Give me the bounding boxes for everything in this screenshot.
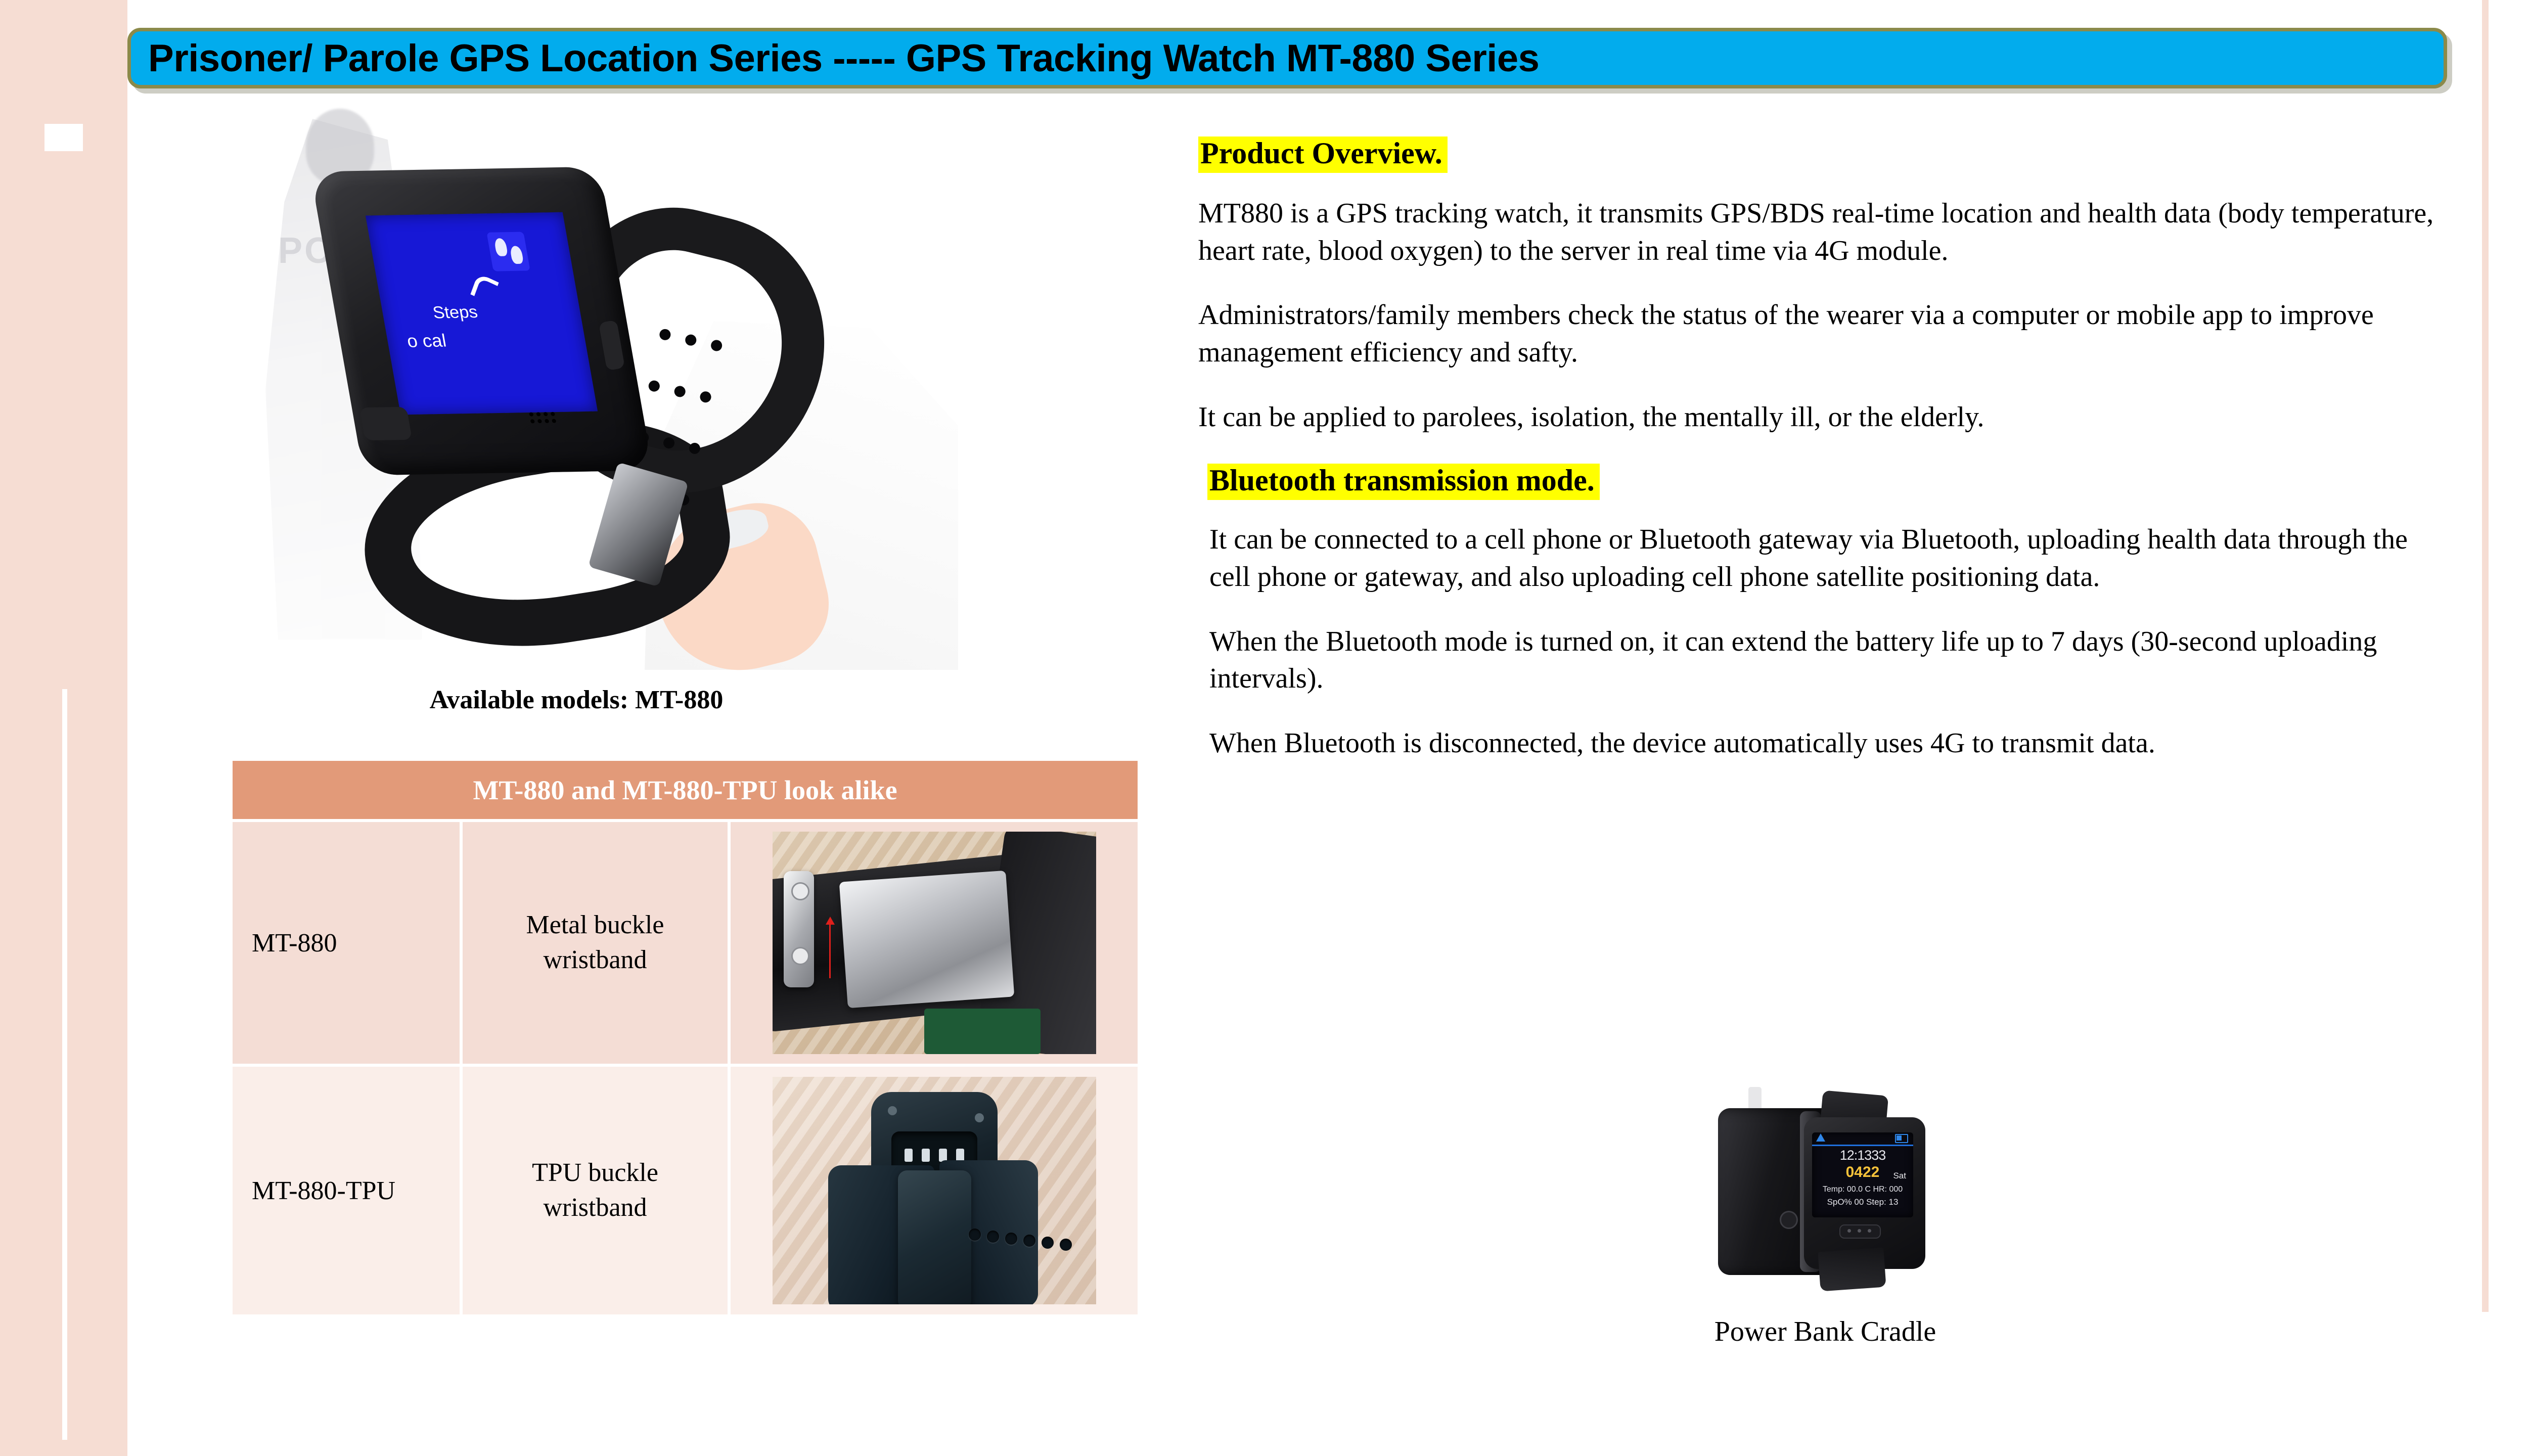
available-models-caption: Available models: MT-880: [152, 685, 1001, 715]
product-overview-heading-wrap: Product Overview.: [1198, 136, 2447, 173]
left-band-white-box: [44, 124, 83, 151]
watch-spo2-step-line: SpO% 00 Step: 13: [1812, 1197, 1913, 1207]
spacer: [1198, 173, 2447, 195]
comparison-table-header: MT-880 and MT-880-TPU look alike: [233, 761, 1138, 819]
spacer: [1198, 372, 2447, 399]
table-cell-photo: [731, 1067, 1138, 1314]
gps-tracking-watch-photo: POLICE Steps o cal: [230, 104, 968, 670]
table-row: MT-880-TPU TPU buckle wristband: [233, 1064, 1138, 1314]
tpu-buckle-wristband-photo: [773, 1077, 1096, 1304]
cradle-power-button: [1780, 1211, 1798, 1229]
spacer: [1198, 596, 2447, 623]
watch-display-screen: Steps o cal: [366, 212, 598, 415]
model-comparison-table: MT-880 and MT-880-TPU look alike MT-880 …: [233, 761, 1138, 1314]
right-decorative-rule-outer: [2482, 0, 2489, 1312]
tpu-buckle-tongue: [898, 1170, 971, 1304]
power-bank-cradle-caption: Power Bank Cradle: [1668, 1315, 1982, 1348]
bluetooth-paragraph-2: When the Bluetooth mode is turned on, it…: [1198, 623, 2447, 698]
exposed-pcb: [924, 1009, 1041, 1054]
footprints-icon: [486, 232, 530, 271]
red-pointer-arrow: [829, 923, 831, 978]
cradle-watch-strap-bottom: [1818, 1248, 1886, 1292]
warning-triangle-icon: [1816, 1133, 1825, 1142]
table-cell-model: MT-880: [233, 822, 463, 1064]
refresh-arrow-icon: [470, 273, 499, 304]
table-cell-description: TPU buckle wristband: [463, 1067, 731, 1314]
bluetooth-paragraph-1: It can be connected to a cell phone or B…: [1198, 521, 2447, 596]
overview-paragraph-2: Administrators/family members check the …: [1198, 297, 2447, 372]
watch-steps-label: Steps: [431, 302, 479, 323]
watch-side-button-left: [359, 407, 413, 441]
table-cell-model: MT-880-TPU: [233, 1067, 463, 1314]
power-bank-cradle-photo: 12:1333 0422 Sat Temp: 00.0 C HR: 000 Sp…: [1704, 1087, 1947, 1289]
bluetooth-heading-wrap: Bluetooth transmission mode.: [1198, 464, 2447, 500]
power-bank-cradle-block: 12:1333 0422 Sat Temp: 00.0 C HR: 000 Sp…: [1668, 1087, 1982, 1348]
bluetooth-transmission-heading: Bluetooth transmission mode.: [1207, 464, 1600, 500]
table-cell-photo: [731, 822, 1138, 1064]
watch-calories-label: o cal: [405, 330, 448, 352]
overview-paragraph-1: MT880 is a GPS tracking watch, it transm…: [1198, 195, 2447, 270]
battery-icon: [1895, 1134, 1908, 1143]
tpu-screw: [975, 1113, 984, 1122]
spacer: [1198, 698, 2447, 725]
spacer: [1198, 500, 2447, 521]
metal-buckle-pin: [784, 871, 814, 987]
watch-weekday-value: Sat: [1893, 1171, 1906, 1181]
watch-time-value: 12:1333: [1812, 1148, 1913, 1163]
bluetooth-paragraph-3: When Bluetooth is disconnected, the devi…: [1198, 725, 2447, 762]
cradle-watch-front-button: [1839, 1224, 1881, 1239]
slide-title-text: Prisoner/ Parole GPS Location Series ---…: [131, 36, 1539, 80]
left-band-vertical-rule: [62, 689, 67, 1440]
spacer: [1198, 436, 2447, 464]
watch-speaker-grille: [529, 412, 559, 427]
left-decorative-band: [0, 0, 127, 1456]
overview-paragraph-3: It can be applied to parolees, isolation…: [1198, 399, 2447, 436]
left-content-column: POLICE Steps o cal Available models: MT-…: [152, 104, 1168, 1357]
metal-buckle-wristband-photo: [773, 832, 1096, 1054]
spacer: [1198, 269, 2447, 297]
right-content-column: Product Overview. MT880 is a GPS trackin…: [1198, 136, 2447, 762]
tpu-screw: [888, 1106, 897, 1115]
product-overview-heading: Product Overview.: [1198, 136, 1448, 173]
metal-buckle-plate: [839, 871, 1014, 1008]
watch-temp-hr-line: Temp: 00.0 C HR: 000: [1812, 1185, 1913, 1194]
slide-title-banner: Prisoner/ Parole GPS Location Series ---…: [127, 28, 2447, 88]
comparison-table-header-text: MT-880 and MT-880-TPU look alike: [473, 775, 897, 806]
table-row: MT-880 Metal buckle wristband: [233, 819, 1138, 1064]
table-cell-description: Metal buckle wristband: [463, 822, 731, 1064]
cradle-watch-display: 12:1333 0422 Sat Temp: 00.0 C HR: 000 Sp…: [1812, 1132, 1913, 1217]
